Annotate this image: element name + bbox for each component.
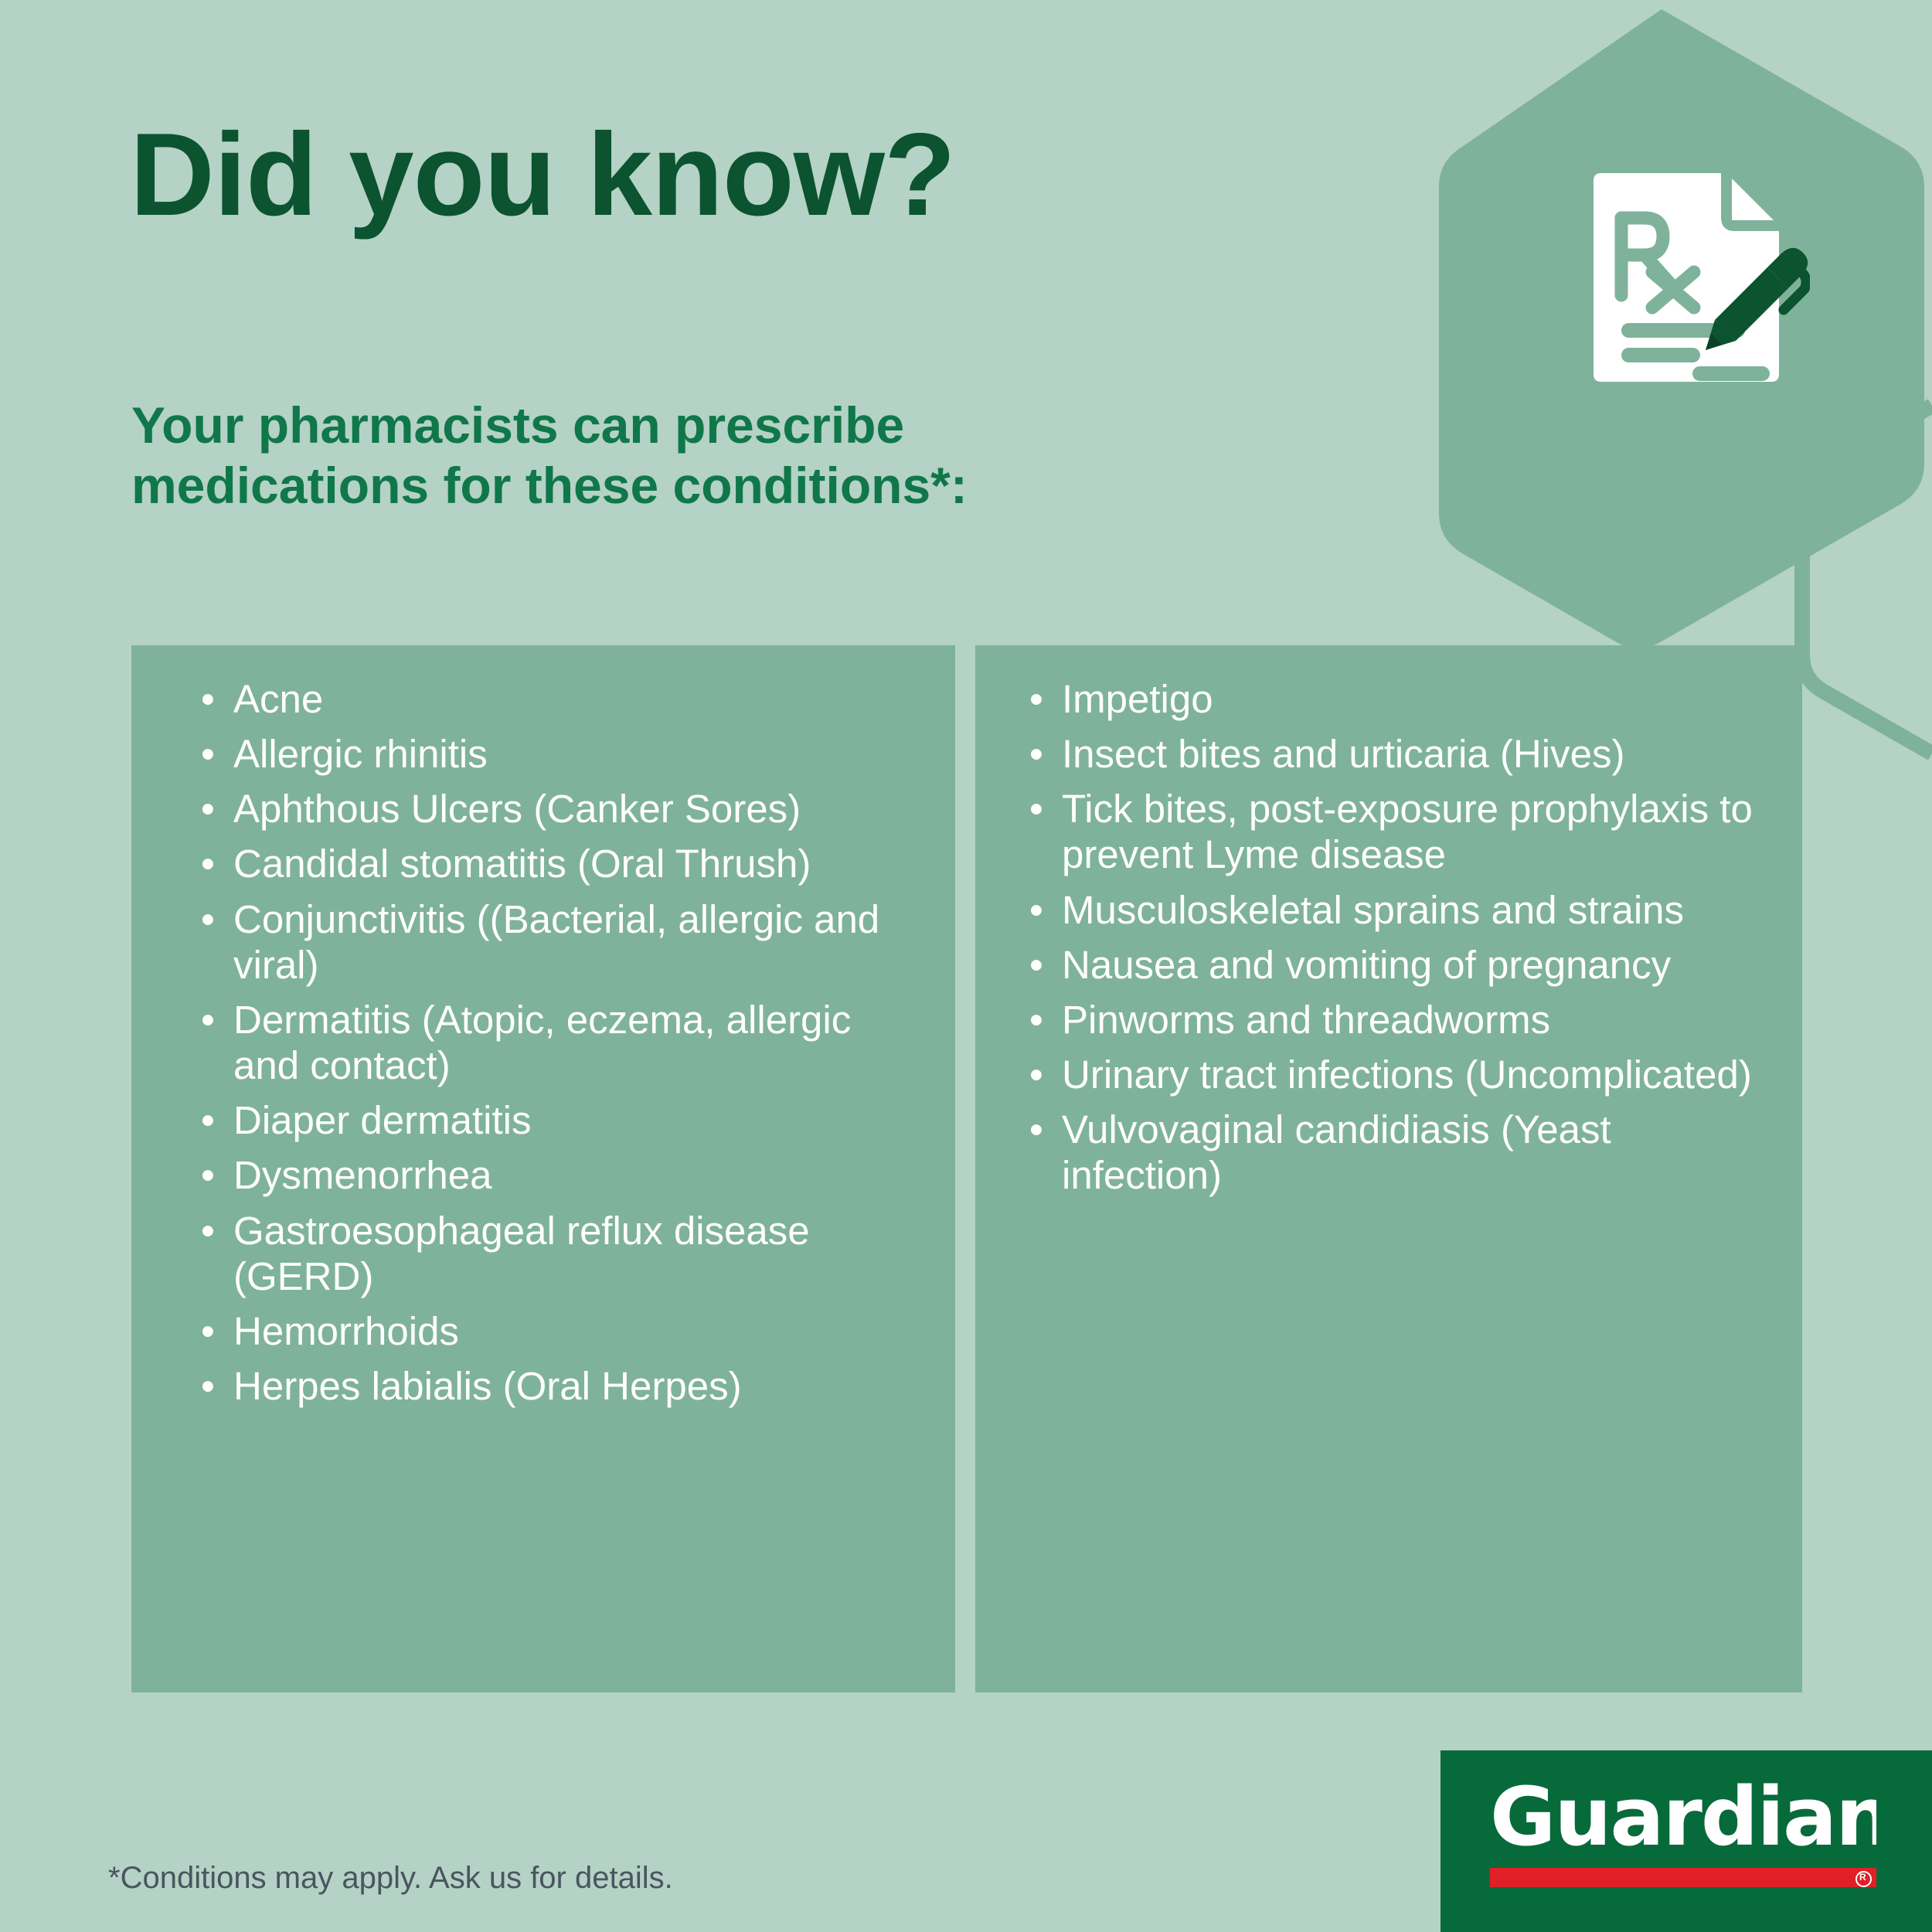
bullet-icon: • xyxy=(201,1363,215,1409)
logo-text: Guardian xyxy=(1490,1783,1876,1860)
bullet-icon: • xyxy=(201,786,215,832)
list-item: • Dermatitis (Atopic, eczema, allergic a… xyxy=(201,997,924,1088)
bullet-icon: • xyxy=(201,841,215,886)
subtitle-line-2: medications for these conditions*: xyxy=(131,456,1291,516)
list-item: • Pinworms and threadworms xyxy=(1029,997,1771,1043)
conditions-list-right: • Impetigo • Insect bites and urticaria … xyxy=(975,645,1802,1199)
bullet-icon: • xyxy=(1029,1107,1043,1152)
list-item-label: Allergic rhinitis xyxy=(233,732,488,776)
list-item: • Diaper dermatitis xyxy=(201,1097,924,1143)
conditions-panel-right: • Impetigo • Insect bites and urticaria … xyxy=(975,645,1802,1692)
list-item-label: Acne xyxy=(233,677,323,721)
document-line-3 xyxy=(1692,366,1770,381)
list-item: • Allergic rhinitis xyxy=(201,731,924,777)
list-item: • Musculoskeletal sprains and strains xyxy=(1029,887,1771,933)
bullet-icon: • xyxy=(201,1097,215,1143)
list-item-label: Dermatitis (Atopic, eczema, allergic and… xyxy=(233,998,851,1087)
list-item: • Conjunctivitis ((Bacterial, allergic a… xyxy=(201,896,924,988)
page-subtitle: Your pharmacists can prescribe medicatio… xyxy=(131,396,1291,516)
list-item: • Aphthous Ulcers (Canker Sores) xyxy=(201,786,924,832)
list-item: • Dysmenorrhea xyxy=(201,1152,924,1198)
list-item-label: Candidal stomatitis (Oral Thrush) xyxy=(233,842,811,886)
bullet-icon: • xyxy=(1029,1052,1043,1097)
list-item: • Vulvovaginal candidiasis (Yeast infect… xyxy=(1029,1107,1771,1198)
list-item: • Impetigo xyxy=(1029,676,1771,722)
list-item-label: Herpes labialis (Oral Herpes) xyxy=(233,1364,742,1408)
page-title: Did you know? xyxy=(130,116,955,233)
bullet-icon: • xyxy=(201,1208,215,1253)
list-item-label: Vulvovaginal candidiasis (Yeast infectio… xyxy=(1062,1107,1611,1197)
list-item-label: Musculoskeletal sprains and strains xyxy=(1062,888,1684,932)
list-item: • Gastroesophageal reflux disease (GERD) xyxy=(201,1208,924,1299)
conditions-list-left: • Acne • Allergic rhinitis • Aphthous Ul… xyxy=(131,645,955,1409)
list-item: • Nausea and vomiting of pregnancy xyxy=(1029,942,1771,988)
list-item-label: Diaper dermatitis xyxy=(233,1098,531,1142)
subtitle-line-1: Your pharmacists can prescribe xyxy=(131,396,1291,456)
bullet-icon: • xyxy=(201,731,215,777)
guardian-logo: Guardian xyxy=(1440,1750,1932,1932)
bullet-icon: • xyxy=(1029,786,1043,832)
list-item-label: Nausea and vomiting of pregnancy xyxy=(1062,943,1671,987)
infographic-canvas: Did you know? Your pharmacists can presc… xyxy=(0,0,1932,1932)
list-item: • Tick bites, post-exposure prophylaxis … xyxy=(1029,786,1771,877)
list-item-label: Pinworms and threadworms xyxy=(1062,998,1550,1042)
list-item: • Candidal stomatitis (Oral Thrush) xyxy=(201,841,924,886)
logo-red-rule xyxy=(1490,1868,1876,1887)
bullet-icon: • xyxy=(1029,731,1043,777)
list-item: • Hemorrhoids xyxy=(201,1308,924,1354)
prescription-document-icon xyxy=(1586,172,1810,396)
bullet-icon: • xyxy=(1029,887,1043,933)
list-item: • Urinary tract infections (Uncomplicate… xyxy=(1029,1052,1771,1097)
list-item: • Herpes labialis (Oral Herpes) xyxy=(201,1363,924,1409)
list-item-label: Insect bites and urticaria (Hives) xyxy=(1062,732,1624,776)
bullet-icon: • xyxy=(201,1152,215,1198)
bullet-icon: • xyxy=(1029,676,1043,722)
bullet-icon: • xyxy=(1029,997,1043,1043)
bullet-icon: • xyxy=(201,676,215,722)
list-item-label: Impetigo xyxy=(1062,677,1213,721)
list-item-label: Dysmenorrhea xyxy=(233,1153,492,1197)
list-item-label: Urinary tract infections (Uncomplicated) xyxy=(1062,1053,1752,1097)
conditions-panel-left: • Acne • Allergic rhinitis • Aphthous Ul… xyxy=(131,645,955,1692)
list-item: • Acne xyxy=(201,676,924,722)
bullet-icon: • xyxy=(1029,942,1043,988)
bullet-icon: • xyxy=(201,997,215,1043)
bullet-icon: • xyxy=(201,896,215,942)
list-item-label: Aphthous Ulcers (Canker Sores) xyxy=(233,787,801,831)
document-line-2 xyxy=(1621,348,1700,362)
hexagon-shape-outline xyxy=(1802,406,1932,753)
list-item-label: Hemorrhoids xyxy=(233,1309,459,1353)
list-item: • Insect bites and urticaria (Hives) xyxy=(1029,731,1771,777)
list-item-label: Gastroesophageal reflux disease (GERD) xyxy=(233,1209,810,1298)
footnote-disclaimer: *Conditions may apply. Ask us for detail… xyxy=(108,1861,673,1896)
bullet-icon: • xyxy=(201,1308,215,1354)
list-item-label: Conjunctivitis ((Bacterial, allergic and… xyxy=(233,897,879,987)
list-item-label: Tick bites, post-exposure prophylaxis to… xyxy=(1062,787,1753,876)
guardian-wordmark: Guardian xyxy=(1490,1783,1876,1860)
registered-trademark-icon xyxy=(1855,1871,1872,1887)
